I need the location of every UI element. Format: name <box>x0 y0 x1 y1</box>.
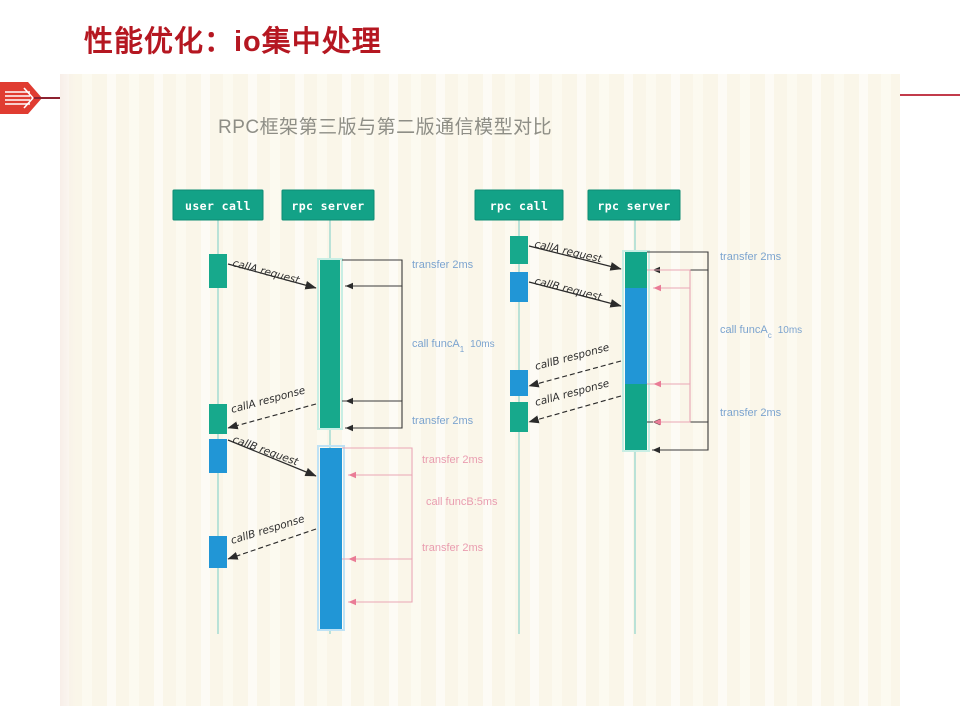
sequence-diagram: user call rpc server callA request callA… <box>60 74 900 706</box>
activation-rpc-callA-send <box>510 236 528 264</box>
header-accent-rule <box>898 94 960 96</box>
participant-label: rpc server <box>597 199 670 213</box>
participant-user-call[interactable]: user call <box>173 190 263 220</box>
annotation-call-funcB: call funcB:5ms <box>426 496 498 508</box>
activation-server-funcA <box>320 260 340 428</box>
annotation-transfer-2: transfer 2ms <box>720 407 782 419</box>
activation-server-inner-funcB <box>625 288 647 384</box>
participant-rpc-call[interactable]: rpc call <box>475 190 563 220</box>
activation-server-funcB <box>320 448 342 629</box>
message-label: callA response <box>230 385 307 416</box>
activation-user-callA-recv <box>209 404 227 434</box>
page-title: 性能优化：io集中处理 <box>84 18 382 60</box>
message-label: callA request <box>231 257 301 287</box>
message-label: callB request <box>231 434 301 469</box>
activation-user-callB-recv <box>209 536 227 568</box>
annotation-transfer-1: transfer 2ms <box>720 251 782 263</box>
right-sequence-group: rpc call rpc server callA request callB … <box>475 190 802 634</box>
message-label: callB response <box>229 513 306 547</box>
participant-label: rpc server <box>291 199 364 213</box>
participant-rpc-server-left[interactable]: rpc server <box>282 190 374 220</box>
activation-user-callA-send <box>209 254 227 288</box>
left-sequence-group: user call rpc server callA request callA… <box>173 190 498 634</box>
message-label: callB response <box>534 342 611 373</box>
message-label: callA response <box>534 378 611 409</box>
annotation-transfer-4: transfer 2ms <box>422 542 484 554</box>
activation-user-callB-send <box>209 439 227 473</box>
participant-label: user call <box>185 199 251 213</box>
annotation-call-funcA: call funcAc10ms <box>720 324 802 340</box>
annotation-transfer-2: transfer 2ms <box>412 415 474 427</box>
message-label: callB request <box>533 275 603 303</box>
annotation-transfer-3: transfer 2ms <box>422 454 484 466</box>
activation-rpc-callA-recv <box>510 402 528 432</box>
message-label: callA request <box>533 238 604 265</box>
participant-rpc-server-right[interactable]: rpc server <box>588 190 680 220</box>
annotation-transfer-1: transfer 2ms <box>412 259 474 271</box>
participant-label: rpc call <box>490 199 549 213</box>
activation-rpc-callB-send <box>510 272 528 302</box>
content-panel: RPC框架第三版与第二版通信模型对比 user call <box>60 74 900 706</box>
annotation-call-funcA: call funcA110ms <box>412 338 495 354</box>
activation-rpc-callB-recv <box>510 370 528 396</box>
